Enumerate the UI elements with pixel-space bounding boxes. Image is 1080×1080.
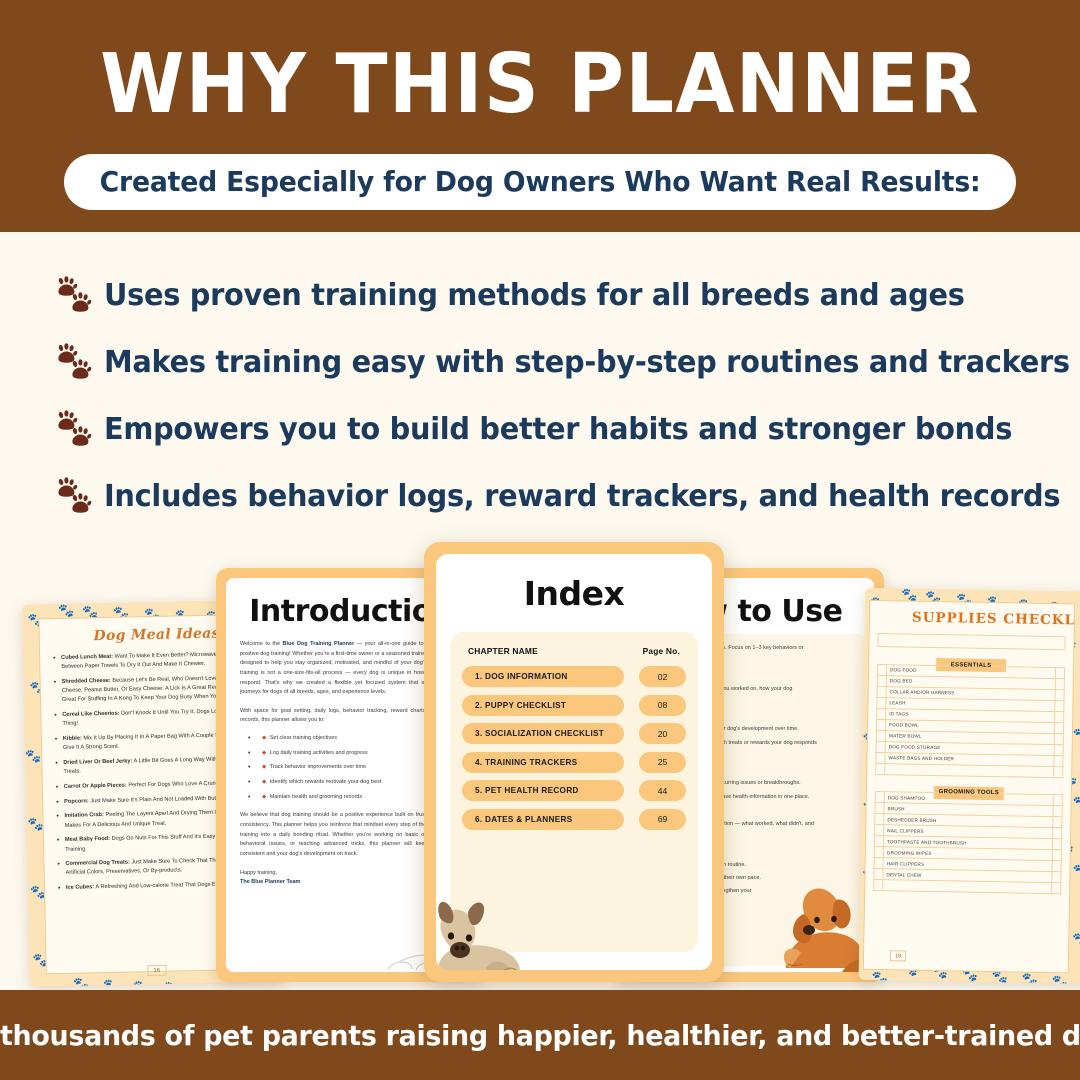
benefit-text: Makes training easy with step-by-step ro…: [104, 345, 1070, 380]
checklist-table: DOG SHAMPOOBRUSHDESHEDDER BRUSHNAIL CLIP…: [873, 791, 1063, 894]
chapter-name-chip[interactable]: 5. PET HEALTH RECORD: [462, 780, 624, 801]
checkbox-cell[interactable]: [1052, 850, 1061, 861]
supplies-title: SUPPLIES CHECKLIST: [912, 610, 1066, 629]
item-label-cell: [883, 880, 1052, 894]
mockup-index: Index CHAPTER NAME Page No. 1. DOG INFOR…: [424, 542, 724, 982]
checkbox-cell[interactable]: [1055, 678, 1064, 689]
page-number-chip[interactable]: 02: [639, 666, 686, 687]
checkbox-cell[interactable]: [874, 879, 883, 890]
planner-page-mockups: 🐾🐾🐾🐾🐾🐾🐾🐾🐾🐾🐾🐾🐾🐾🐾🐾🐾🐾🐾🐾🐾🐾🐾🐾🐾🐾🐾🐾🐾🐾🐾🐾🐾🐾🐾🐾🐾🐾🐾🐾…: [0, 530, 1080, 1000]
checkbox-cell[interactable]: [1055, 711, 1064, 722]
paw-print-icon: [52, 477, 94, 517]
checkbox-cell[interactable]: [1055, 667, 1064, 678]
table-row[interactable]: [874, 879, 1061, 893]
page-number-chip[interactable]: 44: [639, 780, 686, 801]
table-row[interactable]: 2. PUPPY CHECKLIST08: [462, 695, 686, 716]
checkbox-cell[interactable]: [1054, 755, 1063, 766]
table-row[interactable]: 1. DOG INFORMATION02: [462, 666, 686, 687]
page-title: WHY THIS PLANNER: [38, 44, 1042, 126]
checkbox-cell[interactable]: [875, 802, 884, 813]
index-panel: CHAPTER NAME Page No. 1. DOG INFORMATION…: [450, 632, 698, 952]
page-number-chip[interactable]: 08: [639, 695, 686, 716]
index-sheet: Index CHAPTER NAME Page No. 1. DOG INFOR…: [436, 554, 712, 970]
col-chapter-name: CHAPTER NAME: [468, 646, 538, 656]
checkbox-cell[interactable]: [874, 868, 883, 879]
supplies-sheet: SUPPLIES CHECKLIST ESSENTIALSDOG FOODDOG…: [863, 600, 1075, 974]
table-row[interactable]: 6. DATES & PLANNERS69: [462, 809, 686, 830]
checkbox-cell[interactable]: [1052, 883, 1061, 894]
checkbox-cell[interactable]: [1054, 733, 1063, 744]
benefit-text: Includes behavior logs, reward trackers,…: [104, 479, 1060, 514]
checkbox-cell[interactable]: [1053, 806, 1062, 817]
checklist-table: DOG FOODDOG BEDCOLLAR AND/OR HARNESSLEAS…: [875, 663, 1065, 777]
paw-print-icon: [52, 276, 94, 316]
checkbox-cell[interactable]: [877, 664, 886, 675]
checkbox-cell[interactable]: [1052, 872, 1061, 883]
chapter-name-chip[interactable]: 3. SOCIALIZATION CHECKLIST: [462, 723, 624, 744]
page-number: 18: [890, 950, 906, 961]
checkbox-cell[interactable]: [876, 741, 885, 752]
table-row[interactable]: 4. TRAINING TRACKERS25: [462, 752, 686, 773]
header-banner: WHY THIS PLANNER Created Especially for …: [0, 0, 1080, 232]
col-page-no: Page No.: [643, 646, 680, 656]
footer-banner: Join thousands of pet parents raising ha…: [0, 990, 1080, 1080]
checkbox-cell[interactable]: [876, 752, 885, 763]
chapter-name-chip[interactable]: 1. DOG INFORMATION: [462, 666, 624, 687]
checkbox-cell[interactable]: [1055, 700, 1064, 711]
checkbox-cell[interactable]: [1053, 795, 1062, 806]
checkbox-cell[interactable]: [875, 813, 884, 824]
checkbox-cell[interactable]: [877, 708, 886, 719]
checkbox-cell[interactable]: [877, 686, 886, 697]
benefits-list: Uses proven training methods for all bre…: [52, 262, 1032, 530]
signoff-line-2: The Blue Planner Team: [240, 879, 300, 885]
paw-print-icon: [52, 410, 94, 450]
checkbox-cell[interactable]: [876, 763, 885, 774]
checkbox-cell[interactable]: [1054, 744, 1063, 755]
page-number-chip[interactable]: 20: [639, 723, 686, 744]
list-item: Empowers you to build better habits and …: [52, 396, 1032, 463]
table-row[interactable]: 3. SOCIALIZATION CHECKLIST20: [462, 723, 686, 744]
checkbox-cell[interactable]: [874, 846, 883, 857]
checkbox-cell[interactable]: [876, 730, 885, 741]
page-number-chip[interactable]: 25: [639, 752, 686, 773]
page-number: 16: [147, 965, 166, 976]
checkbox-cell[interactable]: [874, 835, 883, 846]
checkbox-cell[interactable]: [875, 824, 884, 835]
mockup-supplies-checklist: 🐾🐾🐾🐾🐾🐾🐾🐾🐾🐾🐾🐾🐾🐾🐾🐾🐾🐾🐾🐾🐾🐾🐾🐾🐾🐾🐾🐾🐾🐾🐾🐾🐾🐾🐾🐾🐾🐾🐾🐾…: [859, 588, 1080, 984]
list-item: Makes training easy with step-by-step ro…: [52, 329, 1032, 396]
checkbox-cell[interactable]: [1054, 722, 1063, 733]
subtitle-text: Created Especially for Dog Owners Who Wa…: [100, 166, 981, 198]
subtitle-pill: Created Especially for Dog Owners Who Wa…: [64, 154, 1016, 210]
list-item: Includes behavior logs, reward trackers,…: [52, 463, 1032, 530]
supplies-notes-bar: [877, 633, 1065, 650]
checkbox-cell[interactable]: [875, 791, 884, 802]
checkbox-cell[interactable]: [1053, 817, 1062, 828]
checkbox-cell[interactable]: [877, 697, 886, 708]
benefit-text: Uses proven training methods for all bre…: [104, 278, 965, 313]
paw-print-icon: [52, 343, 94, 383]
checkbox-cell[interactable]: [1054, 766, 1063, 777]
page-number-chip[interactable]: 69: [639, 809, 686, 830]
benefit-text: Empowers you to build better habits and …: [104, 412, 1012, 447]
index-title: Index: [436, 574, 712, 613]
checkbox-cell[interactable]: [1055, 689, 1064, 700]
list-item: Uses proven training methods for all bre…: [52, 262, 1032, 329]
checkbox-cell[interactable]: [876, 719, 885, 730]
checkbox-cell[interactable]: [1052, 839, 1061, 850]
index-table-header: CHAPTER NAME Page No.: [462, 646, 686, 666]
chapter-name-chip[interactable]: 4. TRAINING TRACKERS: [462, 752, 624, 773]
footer-text: Join thousands of pet parents raising ha…: [0, 1019, 1080, 1052]
chapter-name-chip[interactable]: 2. PUPPY CHECKLIST: [462, 695, 624, 716]
checkbox-cell[interactable]: [877, 675, 886, 686]
checkbox-cell[interactable]: [874, 857, 883, 868]
chapter-name-chip[interactable]: 6. DATES & PLANNERS: [462, 809, 624, 830]
item-label-cell: [885, 763, 1054, 777]
table-row[interactable]: [876, 763, 1063, 777]
checkbox-cell[interactable]: [1053, 828, 1062, 839]
table-row[interactable]: 5. PET HEALTH RECORD44: [462, 780, 686, 801]
checkbox-cell[interactable]: [1052, 861, 1061, 872]
